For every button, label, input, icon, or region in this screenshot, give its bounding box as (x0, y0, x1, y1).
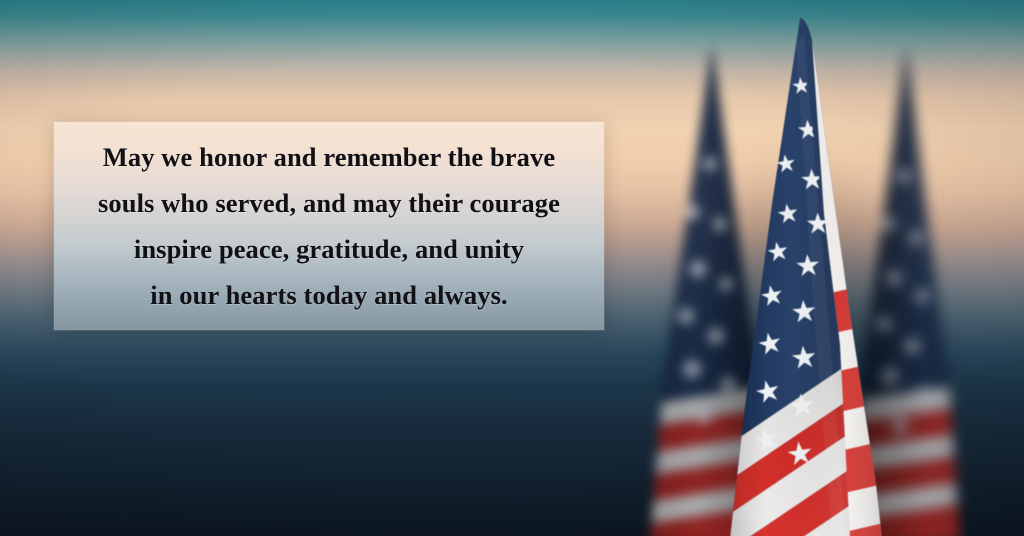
quote-panel: May we honor and remember the brave soul… (54, 122, 604, 330)
quote-line-2: souls who served, and may their courage (98, 180, 560, 226)
quote-text: May we honor and remember the brave soul… (84, 134, 574, 318)
flag-center-foreground (700, 14, 920, 536)
quote-line-1: May we honor and remember the brave (98, 134, 560, 180)
quote-line-4: in our hearts today and always. (98, 272, 560, 318)
quote-line-3: inspire peace, gratitude, and unity (98, 226, 560, 272)
memorial-tribute-image: May we honor and remember the brave soul… (0, 0, 1024, 536)
